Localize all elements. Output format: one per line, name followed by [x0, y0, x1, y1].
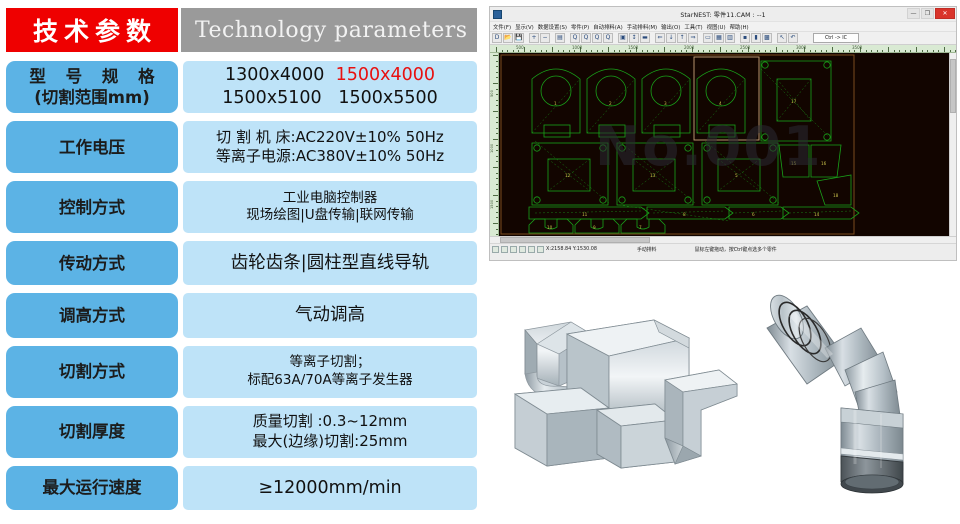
ruler-tick [608, 47, 609, 52]
product-photo-area [489, 288, 960, 524]
spec-label-line1: 最大运行速度 [43, 477, 142, 498]
spec-value-text: 1300x4000 [225, 65, 336, 85]
header-english-title-text: Technology parameters [195, 18, 468, 43]
starnest-cad-window: StarNEST: 零件11.CAM : --1 — ❐ ✕ 文件(F)显示(V… [489, 6, 957, 261]
ruler-tick [513, 50, 514, 53]
osnap-icon[interactable] [528, 246, 535, 253]
nesting-layout-drawing: 123417121351516181186141097 [499, 53, 929, 236]
spec-label-line1: 切割方式 [59, 361, 125, 382]
ruler-tick [922, 50, 923, 53]
zoom-fit-icon[interactable]: Q [592, 33, 602, 43]
cad-window-title: StarNEST: 零件11.CAM : --1 [490, 10, 956, 19]
ruler-tick [496, 229, 499, 230]
cad-drawing-canvas[interactable]: No.001 123417121351516181186141097 [499, 53, 949, 236]
ruler-tick [916, 47, 917, 52]
cad-title-bar: StarNEST: 零件11.CAM : --1 — ❐ ✕ [490, 7, 956, 22]
ruler-h-label: 1000 [572, 45, 582, 50]
nest-part-number: 16 [821, 161, 827, 166]
nest-corner-hole [685, 145, 691, 151]
spec-row: 传动方式齿轮齿条|圆柱型直线导轨 [6, 241, 477, 285]
spec-label-line1: 调高方式 [59, 305, 125, 326]
nest-part-number: 13 [650, 173, 656, 178]
spec-value-line: 标配63A/70A等离子发生器 [247, 372, 412, 390]
spec-row: 切割厚度质量切割 :0.3~12mm最大(边缘)切割:25mm [6, 406, 477, 458]
ruler-tick [843, 50, 844, 53]
ruler-tick [569, 50, 570, 53]
ruler-tick [496, 94, 499, 95]
nest-part-tab-1 [544, 125, 570, 137]
nest-corner-hole [762, 134, 768, 140]
zoom-window-icon[interactable]: Q [581, 33, 591, 43]
window-controls: — ❐ ✕ [907, 8, 955, 19]
ruler-tick [502, 50, 503, 53]
polar-icon[interactable] [519, 246, 526, 253]
ruler-tick [496, 156, 499, 157]
select-part-icon[interactable]: ▣ [618, 33, 628, 43]
ruler-tick [720, 47, 721, 52]
nest-part-number: 9 [593, 225, 596, 230]
horizontal-scrollbar[interactable] [490, 236, 956, 243]
nest-part-18 [817, 175, 851, 205]
ruler-tick [714, 50, 715, 53]
ruler-tick [770, 50, 771, 53]
ruler-tick [810, 50, 811, 53]
move-down-icon[interactable]: ↓ [666, 33, 676, 43]
status-hint: 鼠标左键拖动，按Ctrl键点选多个零件 [695, 246, 777, 253]
ruler-tick [838, 50, 839, 53]
spec-row-value: 齿轮齿条|圆柱型直线导轨 [183, 241, 477, 285]
ruler-tick [787, 50, 788, 53]
spec-row: 控制方式工业电脑控制器现场绘图|U盘传输|联网传输 [6, 181, 477, 233]
spec-label-line1: 传动方式 [59, 253, 125, 274]
nest-strip-8 [647, 207, 733, 219]
ruler-tick [493, 55, 498, 56]
ruler-tick [658, 50, 659, 53]
nest-part-tab-3 [654, 125, 680, 137]
ruler-tick [882, 50, 883, 53]
spec-label-line1: 控制方式 [59, 197, 125, 218]
move-up-icon[interactable]: ↑ [677, 33, 687, 43]
undo-icon[interactable]: ↶ [788, 33, 798, 43]
ruler-tick [826, 50, 827, 53]
ruler-tick [776, 47, 777, 52]
ruler-tick [493, 167, 498, 168]
vertical-scrollbar[interactable] [949, 53, 956, 236]
zoom-prev-icon[interactable]: Q [603, 33, 613, 43]
header-english-title: Technology parameters [181, 8, 477, 52]
nest-part-tab-2 [599, 125, 625, 137]
nest-saddle-7 [621, 219, 665, 233]
ruler-tick [754, 50, 755, 53]
status-coordinates: X:2158.84 Y:1530.08 [546, 246, 597, 252]
ruler-tick [496, 212, 499, 213]
move-right-icon[interactable]: ⇒ [688, 33, 698, 43]
ruler-v-label: 500 [490, 90, 494, 97]
duct-products-illustration [489, 288, 960, 524]
ruler-tick [938, 50, 939, 53]
save-file-icon[interactable]: 💾 [514, 33, 524, 43]
ruler-tick [681, 50, 682, 53]
ruler-tick [546, 50, 547, 53]
ruler-tick [944, 47, 945, 52]
ruler-tick [493, 83, 498, 84]
spec-label-line2: (切割范围mm) [34, 87, 149, 108]
nest-part-icon[interactable]: ▮ [751, 33, 761, 43]
ruler-tick [731, 50, 732, 53]
ruler-tick [496, 201, 499, 202]
nest-strip-guide [535, 211, 641, 213]
ruler-tick [496, 61, 499, 62]
ruler-tick [496, 178, 499, 179]
mirror-icon[interactable]: ▬ [640, 33, 650, 43]
ruler-tick [496, 206, 499, 207]
ruler-tick [535, 50, 536, 53]
spec-row-value: ≥12000mm/min [183, 466, 477, 510]
nest-panel-cross [718, 159, 760, 191]
ruler-tick [563, 50, 564, 53]
array-icon[interactable]: ▦ [714, 33, 724, 43]
nest-corner-hole [762, 62, 768, 68]
spec-row-label: 切割方式 [6, 346, 178, 398]
ruler-tick [496, 189, 499, 190]
cad-menu-item-5[interactable]: 手动排料(M) [627, 23, 657, 31]
spec-value-line: 切 割 机 床:AC220V±10% 50Hz [216, 128, 444, 148]
ruler-tick [496, 66, 499, 67]
ruler-tick [493, 139, 498, 140]
ruler-v-label: 1000 [490, 144, 494, 153]
spec-row-label: 控制方式 [6, 181, 178, 233]
ruler-tick [530, 50, 531, 53]
nest-part-number: 18 [833, 193, 839, 198]
pointer-icon[interactable]: ↖ [777, 33, 787, 43]
ruler-tick [493, 195, 498, 196]
spec-value-line: 1500x5100 1500x5500 [222, 87, 438, 110]
nest-part-number: 6 [752, 212, 755, 217]
ruler-tick [496, 133, 499, 134]
ruler-tick [493, 223, 498, 224]
ruler-tick [507, 50, 508, 53]
ruler-tick [552, 47, 553, 52]
ruler-tick [496, 77, 499, 78]
ortho-icon[interactable] [510, 246, 517, 253]
nest-part-number: 7 [639, 225, 642, 230]
spec-label-line1: 工作电压 [59, 137, 125, 158]
ruler-tick [765, 50, 766, 53]
cad-menu-item-3[interactable]: 零件(P) [571, 23, 589, 31]
ruler-tick [877, 50, 878, 53]
spec-row: 切割方式等离子切割；标配63A/70A等离子发生器 [6, 346, 477, 398]
cad-menu-item-7[interactable]: 工具(T) [684, 23, 702, 31]
nest-grid-icon[interactable]: ▩ [762, 33, 772, 43]
ruler-tick [496, 150, 499, 151]
ruler-tick [703, 50, 704, 53]
ruler-tick [782, 50, 783, 53]
ruler-h-label: 3000 [796, 45, 806, 50]
spec-value-line: 气动调高 [295, 304, 365, 327]
horizontal-scrollbar-thumb[interactable] [500, 237, 650, 243]
nest-guide-line [535, 141, 609, 203]
cad-menu-item-6[interactable]: 输出(O) [661, 23, 680, 31]
ruler-tick [619, 50, 620, 53]
nest-part-number: 11 [582, 212, 588, 217]
spec-row: 调高方式气动调高 [6, 293, 477, 337]
nest-corner-hole [619, 145, 625, 151]
nest-strip-6 [729, 207, 789, 219]
close-icon[interactable]: ✕ [935, 8, 955, 19]
ruler-tick [955, 50, 956, 53]
move-left-icon[interactable]: ⇐ [655, 33, 665, 43]
ruler-tick [524, 47, 525, 52]
spec-row-label: 调高方式 [6, 293, 178, 337]
nest-part-number: 5 [735, 173, 738, 178]
zoom-in-icon[interactable]: + [529, 33, 539, 43]
spec-label-line1: 型 号 规 格 [22, 66, 161, 87]
maximize-icon[interactable]: ❐ [921, 8, 934, 19]
cad-body: 50010001500 No.001 123417121351516181186… [490, 53, 956, 236]
zoom-out-icon[interactable]: − [540, 33, 550, 43]
ruler-tick [496, 89, 499, 90]
ruler-tick [888, 47, 889, 52]
nest-auto-icon[interactable]: ▪ [740, 33, 750, 43]
new-file-icon[interactable]: D [492, 33, 502, 43]
ruler-tick [737, 50, 738, 53]
ruler-tick [642, 50, 643, 53]
spec-value-line: 质量切割 :0.3~12mm [253, 412, 408, 432]
ruler-tick [496, 173, 499, 174]
nest-corner-hole [824, 62, 830, 68]
cad-menu-item-4[interactable]: 自动排料(A) [593, 23, 622, 31]
spec-row-value: 工业电脑控制器现场绘图|U盘传输|联网传输 [183, 181, 477, 233]
open-file-icon[interactable]: 📂 [503, 33, 513, 43]
ruler-h-label: 1500 [628, 45, 638, 50]
ruler-tick [647, 50, 648, 53]
spec-row-label: 工作电压 [6, 121, 178, 173]
spec-row: 工作电压切 割 机 床:AC220V±10% 50Hz等离子电源:AC380V±… [6, 121, 477, 173]
minimize-icon[interactable]: — [907, 8, 920, 19]
ruler-tick [849, 50, 850, 53]
status-mode: 手动排料 [637, 246, 657, 253]
vertical-ruler: 50010001500 [490, 53, 499, 236]
spec-row: 最大运行速度≥12000mm/min [6, 466, 477, 510]
nest-strip-guide [735, 211, 781, 213]
ruler-tick [815, 50, 816, 53]
grid-icon[interactable]: ▤ [555, 33, 565, 43]
spec-rows: 型 号 规 格(切割范围mm)1300x4000 1500x40001500x5… [6, 61, 477, 518]
cad-status-bar: X:2158.84 Y:1530.08 手动排料 鼠标左键拖动，按Ctrl键点选… [490, 243, 956, 254]
slide-root: 技术参数 Technology parameters 型 号 规 格(切割范围m… [0, 0, 960, 524]
ruler-tick [541, 50, 542, 53]
ruler-tick [927, 50, 928, 53]
nest-part-number: 12 [565, 173, 571, 178]
spec-value-line: ≥12000mm/min [258, 477, 401, 500]
align-vertical-icon[interactable]: ↕ [629, 33, 639, 43]
spec-value-line: 最大(边缘)切割:25mm [252, 432, 407, 452]
spec-label-line1: 切割厚度 [59, 421, 125, 442]
grid-snap-icon[interactable] [501, 246, 508, 253]
cad-menu-item-0[interactable]: 文件(F) [493, 23, 511, 31]
spec-row-label: 传动方式 [6, 241, 178, 285]
ruler-tick [871, 50, 872, 53]
nest-part-number: 10 [547, 225, 553, 230]
nest-strip-guide [789, 211, 851, 213]
snap-icon[interactable] [492, 246, 499, 253]
ruler-tick [675, 50, 676, 53]
ruler-tick [496, 72, 499, 73]
cad-menu-item-8[interactable]: 视图(U) [707, 23, 726, 31]
ruler-h-label: 2500 [740, 45, 750, 50]
ruler-tick [558, 50, 559, 53]
ruler-tick [496, 47, 497, 52]
ruler-tick [496, 128, 499, 129]
ruler-tick [496, 122, 499, 123]
spec-value-line: 等离子电源:AC380V±10% 50Hz [216, 147, 444, 167]
spec-row-value: 气动调高 [183, 293, 477, 337]
technology-parameters-panel: 技术参数 Technology parameters 型 号 规 格(切割范围m… [0, 0, 482, 524]
ruler-tick [894, 50, 895, 53]
horizontal-ruler: 500100015002000250030003500 [490, 45, 956, 53]
nest-guide-line [619, 141, 695, 203]
ruler-tick [653, 50, 654, 53]
ruler-h-label: 500 [516, 45, 524, 50]
spec-row-label: 最大运行速度 [6, 466, 178, 510]
ruler-tick [950, 50, 951, 53]
nest-strip-11 [529, 207, 649, 219]
ruler-tick [496, 105, 499, 106]
cad-menu-item-1[interactable]: 显示(V) [515, 23, 534, 31]
spec-value-line: 等离子切割； [290, 354, 371, 372]
spec-value-line: 齿轮齿条|圆柱型直线导轨 [231, 252, 429, 275]
spec-value-line: 现场绘图|U盘传输|联网传输 [246, 207, 413, 225]
ruler-tick [597, 50, 598, 53]
nest-corner-hole [770, 145, 776, 151]
nest-part-number: 14 [814, 212, 820, 217]
ruler-tick [670, 50, 671, 53]
ruler-tick [664, 47, 665, 52]
ruler-v-label: 1500 [490, 200, 494, 209]
ruler-tick [866, 50, 867, 53]
spec-row-value: 1300x4000 1500x40001500x5100 1500x5500 [183, 61, 477, 113]
ruler-tick [793, 50, 794, 53]
ruler-tick [493, 111, 498, 112]
spec-value-line: 1300x4000 1500x4000 [225, 64, 435, 87]
line-icon[interactable]: ▭ [703, 33, 713, 43]
ruler-tick [821, 50, 822, 53]
spec-row-label: 型 号 规 格(切割范围mm) [6, 61, 178, 113]
nest-guide-line [705, 141, 779, 203]
nest-part-tab-4 [709, 125, 735, 137]
spec-value-highlight: 1500x4000 [336, 65, 435, 85]
matrix-icon[interactable]: ▥ [725, 33, 735, 43]
nest-part-number: 15 [791, 161, 797, 166]
spec-value-line: 工业电脑控制器 [283, 190, 378, 208]
cad-toolbar: D📂💾+−▤QQQQ▣↕▬⇐↓↑⇒▭▦▥▪▮▩↖↶Ctrl -> IC [490, 32, 956, 45]
nest-corner-hole [534, 145, 540, 151]
nest-saddle-9 [575, 219, 619, 233]
spec-row-label: 切割厚度 [6, 406, 178, 458]
ruler-tick [496, 117, 499, 118]
ruler-tick [910, 50, 911, 53]
ruler-tick [905, 50, 906, 53]
nest-corner-hole [600, 145, 606, 151]
ruler-tick [933, 50, 934, 53]
header-chinese-title: 技术参数 [6, 8, 178, 52]
coordinate-icon [537, 246, 544, 253]
ruler-tick [496, 145, 499, 146]
nest-corner-hole [619, 197, 625, 203]
ruler-tick [726, 50, 727, 53]
spec-table-header: 技术参数 Technology parameters [6, 8, 477, 52]
ruler-tick [496, 217, 499, 218]
spec-row-value: 质量切割 :0.3~12mm最大(边缘)切割:25mm [183, 406, 477, 458]
ruler-h-label: 2000 [684, 45, 694, 50]
nest-part-number: 17 [791, 99, 797, 104]
ruler-tick [496, 100, 499, 101]
nest-corner-hole [704, 145, 710, 151]
toolbar-mode-combobox[interactable]: Ctrl -> IC [813, 33, 859, 43]
spec-row: 型 号 规 格(切割范围mm)1300x4000 1500x40001500x5… [6, 61, 477, 113]
header-chinese-title-text: 技术参数 [27, 12, 157, 48]
ruler-tick [759, 50, 760, 53]
right-panel: StarNEST: 零件11.CAM : --1 — ❐ ✕ 文件(F)显示(V… [489, 0, 960, 524]
cad-menu-bar: 文件(F)显示(V)数据设置(S)零件(P)自动排料(A)手动排料(M)输出(O… [490, 22, 956, 32]
ruler-tick [625, 50, 626, 53]
ruler-tick [709, 50, 710, 53]
ruler-tick [496, 184, 499, 185]
ruler-tick [591, 50, 592, 53]
ruler-tick [496, 161, 499, 162]
cad-menu-item-2[interactable]: 数据设置(S) [538, 23, 567, 31]
ruler-tick [899, 50, 900, 53]
nest-corner-hole [685, 197, 691, 203]
nest-corner-hole [704, 197, 710, 203]
ruler-tick [586, 50, 587, 53]
cad-menu-item-9[interactable]: 帮助(H) [730, 23, 749, 31]
spec-row-value: 等离子切割；标配63A/70A等离子发生器 [183, 346, 477, 398]
ruler-tick [698, 50, 699, 53]
nest-corner-hole [534, 197, 540, 203]
spec-row-value: 切 割 机 床:AC220V±10% 50Hz等离子电源:AC380V±10% … [183, 121, 477, 173]
magnify-icon[interactable]: Q [570, 33, 580, 43]
ruler-tick [602, 50, 603, 53]
ruler-tick [832, 47, 833, 52]
ruler-tick [614, 50, 615, 53]
ruler-h-label: 3500 [852, 45, 862, 50]
vertical-scrollbar-thumb[interactable] [950, 59, 956, 113]
